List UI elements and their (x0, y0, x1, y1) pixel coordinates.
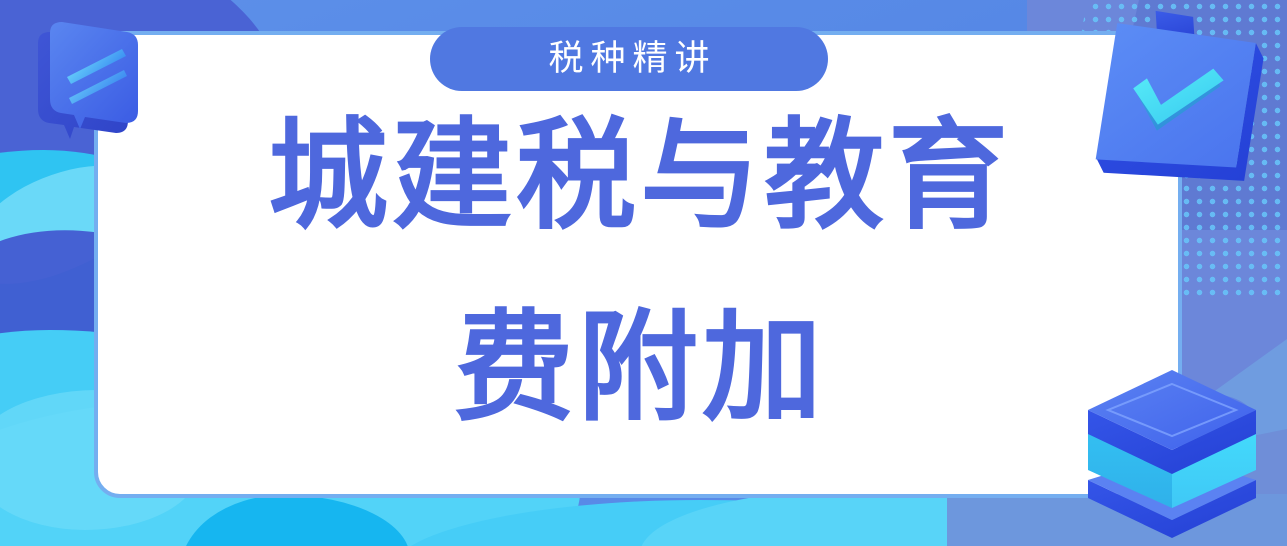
cube-stack-icon (1080, 358, 1265, 538)
chat-bubble-icon (30, 15, 160, 140)
category-badge-label: 税种精讲 (541, 42, 716, 77)
course-banner: 城建税与教育 费附加 税种精讲 (0, 0, 1287, 546)
category-badge: 税种精讲 (430, 27, 828, 91)
title-line-1: 城建税与教育 (94, 112, 1182, 242)
page-title: 城建税与教育 费附加 (94, 112, 1182, 434)
title-line-2: 费附加 (94, 304, 1182, 434)
folder-check-icon (1084, 8, 1279, 193)
